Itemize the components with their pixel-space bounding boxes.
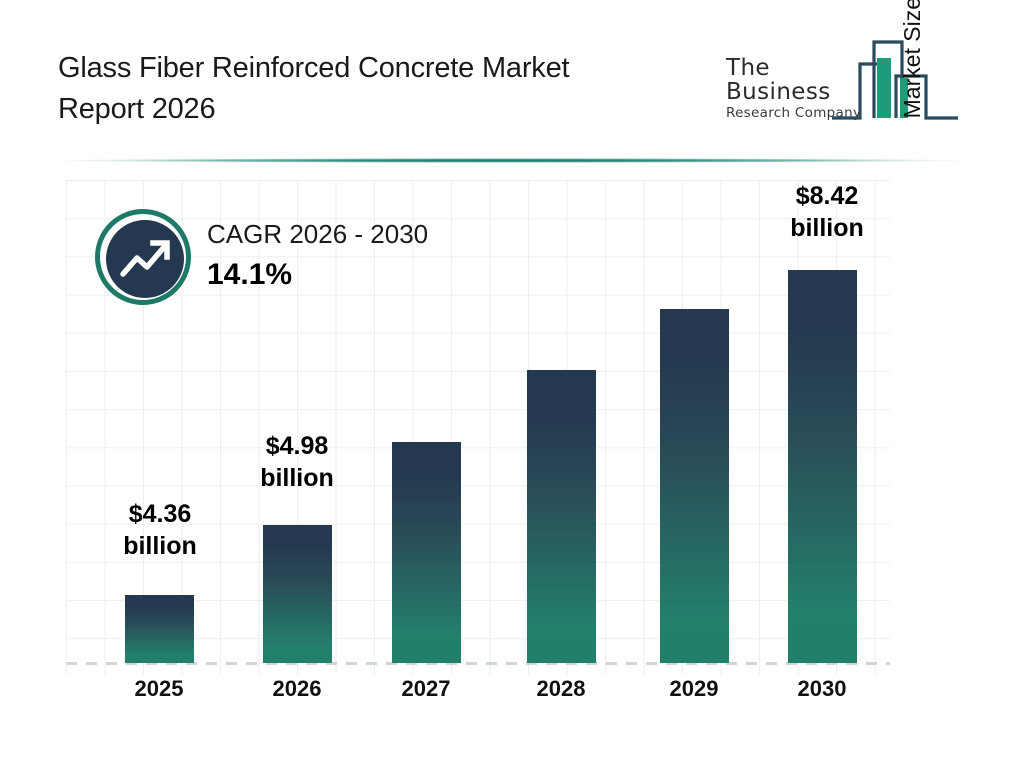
x-tick-2029: 2029: [644, 676, 744, 702]
bar-2027[interactable]: [392, 442, 461, 663]
bar-value-label-2030: $8.42 billion: [772, 180, 882, 244]
cagr-annotation: CAGR 2026 - 2030 14.1%: [95, 209, 495, 319]
page-title: Glass Fiber Reinforced Concrete Market R…: [58, 48, 698, 130]
bar-2028[interactable]: [527, 370, 596, 663]
header: Glass Fiber Reinforced Concrete Market R…: [0, 0, 1024, 150]
bar-2029[interactable]: [660, 309, 729, 663]
trending-up-arrow-icon: [120, 236, 172, 287]
cagr-badge-ring: [95, 209, 191, 305]
bar-value-label-2025: $4.36 billion: [110, 498, 210, 562]
y-axis-label: Market Size (in USD Billion): [890, 0, 934, 224]
cagr-value: 14.1%: [207, 258, 292, 292]
bar-2025[interactable]: [125, 595, 194, 663]
x-tick-2027: 2027: [376, 676, 476, 702]
header-divider: [50, 158, 970, 163]
bar-2026[interactable]: [263, 525, 332, 663]
bar-2030[interactable]: [788, 270, 857, 663]
cagr-period-label: CAGR 2026 - 2030: [207, 219, 428, 250]
cagr-badge-fill: [106, 220, 184, 298]
x-tick-2028: 2028: [511, 676, 611, 702]
x-tick-2030: 2030: [772, 676, 872, 702]
x-tick-2025: 2025: [109, 676, 209, 702]
bar-chart: $4.36 billion $4.98 billion $8.42 billio…: [0, 168, 1024, 768]
x-tick-2026: 2026: [247, 676, 347, 702]
bar-value-label-2026: $4.98 billion: [247, 430, 347, 494]
